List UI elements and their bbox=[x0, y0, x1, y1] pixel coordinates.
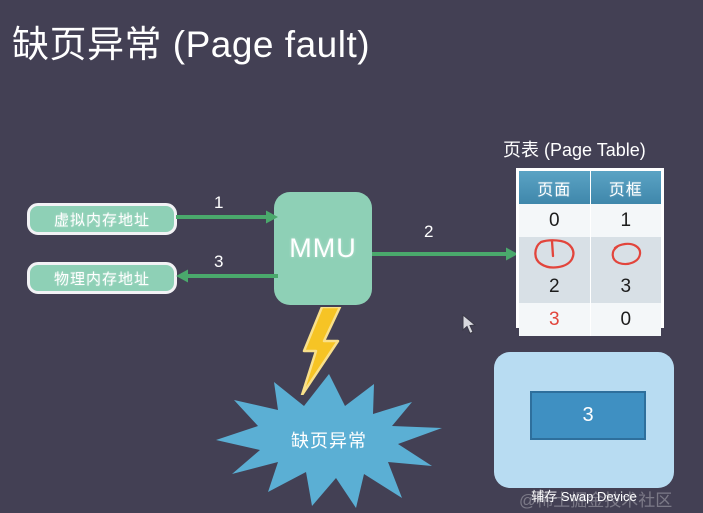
page-cell-annotated: 1 bbox=[519, 237, 590, 270]
red-circle-annotation-frame bbox=[608, 242, 644, 266]
page-table-header-frame: 页框 bbox=[590, 171, 661, 204]
mmu-label: MMU bbox=[289, 233, 356, 264]
page-cell: 0 bbox=[519, 204, 590, 237]
page-cell: 3 bbox=[519, 303, 590, 336]
swap-device-block: 3 bbox=[530, 391, 646, 440]
table-row: 2 3 bbox=[519, 270, 661, 303]
physical-address-box: 物理内存地址 bbox=[27, 262, 177, 294]
arrow-3-label: 3 bbox=[214, 252, 223, 272]
virtual-address-label: 虚拟内存地址 bbox=[54, 209, 150, 230]
table-row: 3 0 bbox=[519, 303, 661, 336]
physical-address-label: 物理内存地址 bbox=[54, 268, 150, 289]
arrow-2-label: 2 bbox=[424, 222, 433, 242]
arrow-1-label: 1 bbox=[214, 193, 223, 213]
page-table-header-row: 页面 页框 bbox=[519, 171, 661, 204]
swap-device-label: 辅存 Swap Device bbox=[494, 486, 674, 505]
frame-cell: 3 bbox=[590, 270, 661, 303]
page-cell: 2 bbox=[519, 270, 590, 303]
arrow-2-mmu-to-page-table bbox=[372, 247, 518, 261]
mouse-cursor-icon bbox=[462, 314, 478, 336]
table-row: 1 0 bbox=[519, 237, 661, 270]
page-table-caption: 页表 (Page Table) bbox=[503, 136, 646, 162]
frame-cell: 0 bbox=[590, 303, 661, 336]
arrow-3-mmu-to-physical bbox=[176, 269, 278, 283]
page-title: 缺页异常 (Page fault) bbox=[12, 14, 370, 68]
virtual-address-box: 虚拟内存地址 bbox=[27, 203, 177, 235]
swap-device-block-value: 3 bbox=[582, 404, 593, 427]
arrow-1-virtual-to-mmu bbox=[176, 210, 278, 224]
red-circle-annotation-page bbox=[531, 239, 577, 269]
slide-canvas: 缺页异常 (Page fault) 虚拟内存地址 物理内存地址 MMU 1 3 … bbox=[0, 0, 703, 513]
mmu-box: MMU bbox=[274, 192, 372, 305]
page-table-header-page: 页面 bbox=[519, 171, 590, 204]
frame-cell-annotated: 0 bbox=[590, 237, 661, 270]
page-table: 页面 页框 0 1 1 bbox=[516, 168, 664, 328]
table-row: 0 1 bbox=[519, 204, 661, 237]
page-fault-burst bbox=[216, 370, 442, 510]
frame-cell: 1 bbox=[590, 204, 661, 237]
